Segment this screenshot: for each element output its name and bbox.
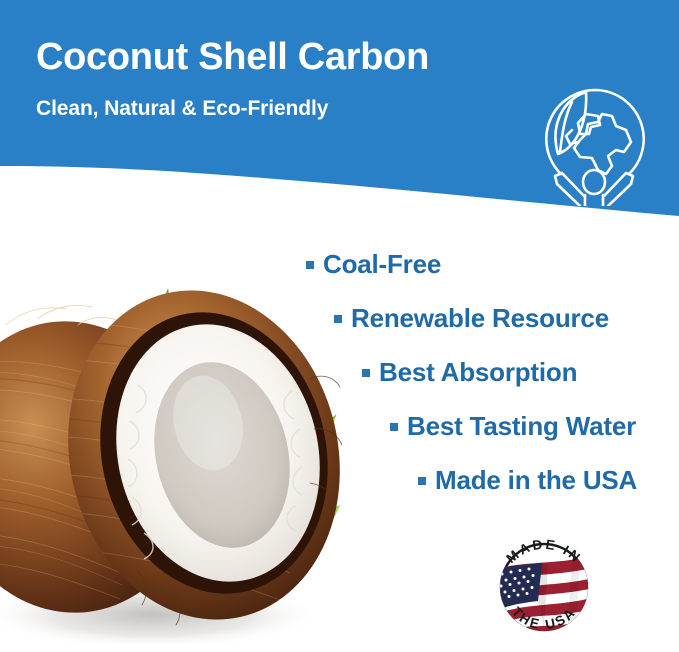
square-bullet-icon: [306, 261, 314, 269]
benefit-item-coal-free: Coal-Free: [306, 251, 441, 277]
square-bullet-icon: [390, 423, 398, 431]
benefits-list: Coal-Free Renewable Resource Best Absorp…: [0, 245, 679, 505]
benefit-item-made-in-the-usa: Made in the USA: [418, 467, 637, 493]
made-in-usa-badge: MADE IN THE USA: [486, 531, 602, 643]
benefit-item-renewable-resource: Renewable Resource: [334, 305, 609, 331]
page-title: Coconut Shell Carbon: [36, 38, 429, 78]
square-bullet-icon: [362, 369, 370, 377]
benefit-label: Best Tasting Water: [407, 413, 636, 439]
page-subtitle: Clean, Natural & Eco-Friendly: [36, 97, 328, 120]
benefit-item-best-tasting-water: Best Tasting Water: [390, 413, 636, 439]
benefit-label: Best Absorption: [379, 359, 577, 385]
square-bullet-icon: [334, 315, 342, 323]
square-bullet-icon: [418, 477, 426, 485]
benefit-label: Renewable Resource: [351, 305, 609, 331]
benefit-item-best-absorption: Best Absorption: [362, 359, 577, 385]
benefit-label: Coal-Free: [323, 251, 441, 277]
benefit-label: Made in the USA: [435, 467, 637, 493]
globe-leaf-hands-icon: [528, 78, 660, 206]
coconut-shell-carbon-infographic: Coconut Shell Carbon Clean, Natural & Ec…: [0, 0, 679, 652]
